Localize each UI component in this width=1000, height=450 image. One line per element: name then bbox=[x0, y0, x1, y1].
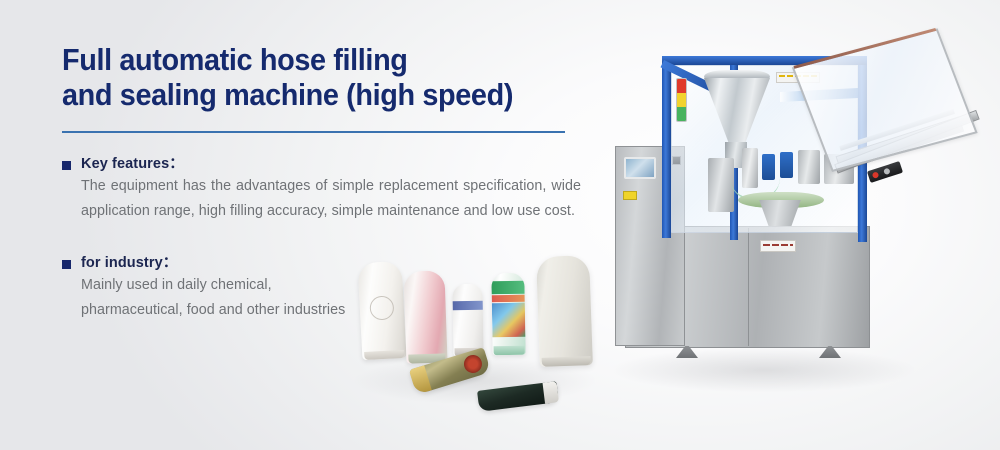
ce-label-icon bbox=[623, 191, 637, 200]
tube-green-sunscreen bbox=[491, 273, 525, 356]
tube-emblem-icon bbox=[462, 353, 484, 375]
tube-large-beige bbox=[536, 255, 593, 367]
stack-light-green bbox=[677, 107, 686, 121]
stack-light-tower-icon bbox=[676, 78, 687, 122]
machine-shadow bbox=[614, 348, 914, 392]
turret-column bbox=[754, 200, 806, 226]
section-key-features: Key features： The equipment has the adva… bbox=[62, 155, 582, 224]
tube-character-artwork bbox=[492, 303, 526, 338]
blue-actuator-1 bbox=[762, 154, 775, 180]
title-divider bbox=[62, 131, 565, 133]
tube-brand-band bbox=[453, 301, 483, 311]
filling-head-block bbox=[708, 158, 734, 212]
frame-post-left bbox=[662, 56, 671, 238]
tube-cap bbox=[542, 356, 591, 367]
section-body-key-features: The equipment has the advantages of simp… bbox=[81, 174, 581, 224]
tube-white-cream bbox=[357, 261, 406, 360]
stack-light-red bbox=[677, 79, 686, 93]
blue-actuator-2 bbox=[780, 152, 793, 178]
tube-red-band bbox=[492, 295, 525, 303]
tube-pink-cream bbox=[403, 270, 447, 363]
conveyor-control-buttons bbox=[867, 161, 903, 183]
machine-photo bbox=[600, 18, 1000, 428]
product-banner: Full automatic hose filling and sealing … bbox=[0, 0, 1000, 450]
page-title: Full automatic hose filling and sealing … bbox=[62, 42, 546, 112]
bullet-row-key-features: Key features： bbox=[62, 155, 582, 174]
square-bullet-icon bbox=[62, 260, 71, 269]
cabinet-door-split bbox=[748, 228, 749, 346]
section-heading-key-features: Key features： bbox=[81, 155, 184, 174]
trimming-unit-block bbox=[798, 150, 820, 184]
tube-green-band bbox=[491, 281, 524, 295]
tube-cap bbox=[494, 346, 525, 356]
square-bullet-icon bbox=[62, 161, 71, 170]
warning-label-lower bbox=[760, 240, 796, 252]
stack-light-yellow bbox=[677, 93, 686, 107]
product-tubes-photo bbox=[345, 248, 615, 428]
tube-cap bbox=[543, 381, 559, 404]
tube-logo-icon bbox=[369, 295, 394, 320]
section-body-for-industry: Mainly used in daily chemical, pharmaceu… bbox=[81, 273, 349, 323]
tube-white-blue-band bbox=[452, 284, 483, 357]
hmi-touchscreen bbox=[624, 157, 656, 179]
section-heading-for-industry: for industry： bbox=[81, 254, 177, 273]
